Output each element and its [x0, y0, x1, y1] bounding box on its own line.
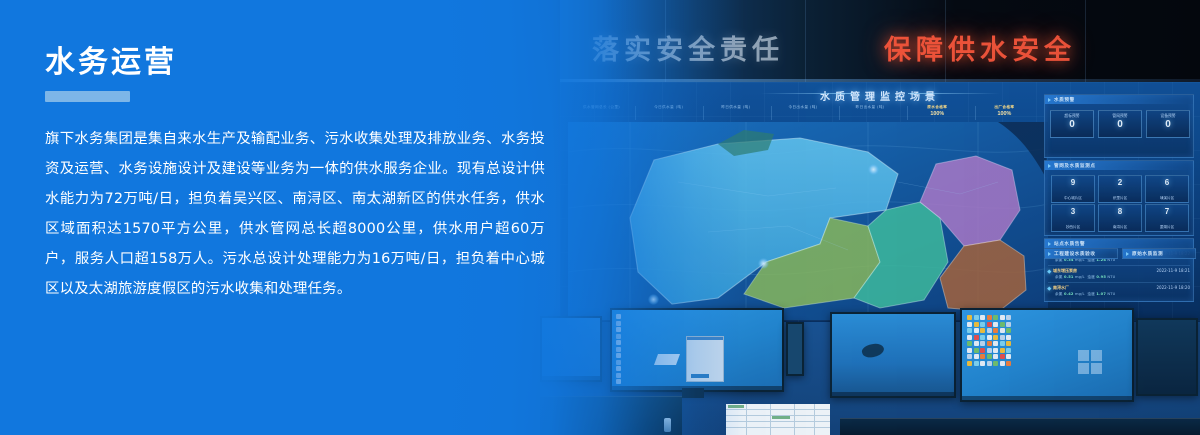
text-content: 水务运营 旗下水务集团是集自来水生产及输配业务、污水收集处理及排放业务、水务投资… [45, 48, 565, 318]
page-title: 水务运营 [45, 48, 565, 78]
body-paragraph: 旗下水务集团是集自来水生产及输配业务、污水收集处理及排放业务、水务投资及运营、水… [45, 124, 545, 304]
water-operations-banner: 落实安全责任 保障供水安全 水质管理监控场景 供水管网总长 (公里) 今日供水量… [0, 0, 1200, 435]
title-underline [45, 91, 130, 102]
